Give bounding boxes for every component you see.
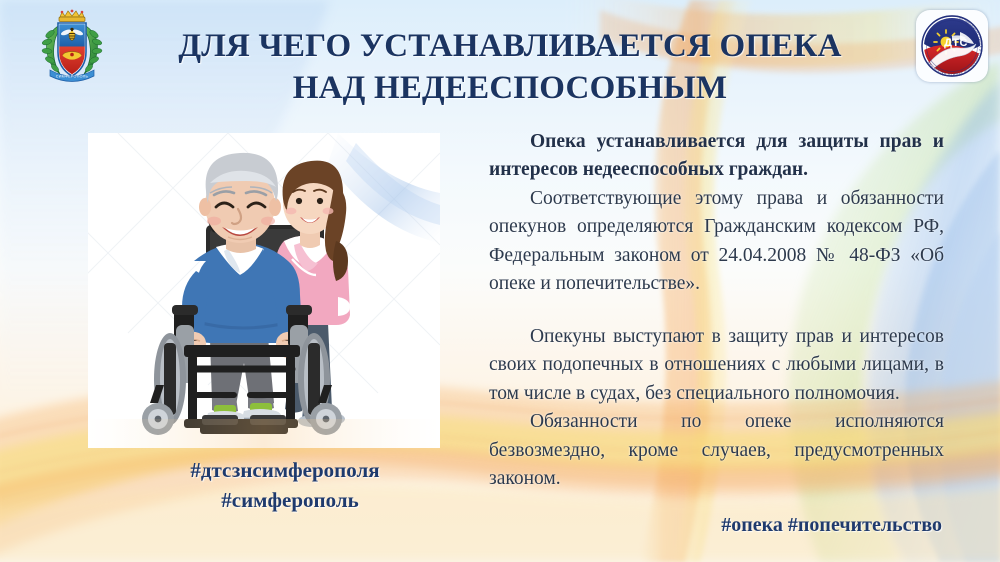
paragraph-spacer (489, 299, 944, 323)
page-title: ДЛЯ ЧЕГО УСТАНАВЛИВАЕТСЯ ОПЕКА НАД НЕДЕЕ… (120, 26, 900, 110)
illustration-elderly-man-wheelchair-with-caregiver (88, 133, 440, 448)
slide-header: СИМФЕРОПОЛЬ ДЛЯ ЧЕГО УСТАНАВЛИВАЕТСЯ ОПЕ… (0, 0, 1000, 122)
page-title-line-2: НАД НЕДЕЕСПОСОБНЫМ (120, 68, 900, 110)
paragraph-3: Опекуны выступают в защиту прав и интере… (489, 323, 944, 408)
hashtag-dtszn: #дтсзнсимферополя (120, 455, 450, 485)
simferopol-coat-of-arms-icon: СИМФЕРОПОЛЬ (38, 8, 106, 88)
hashtags-left: #дтсзнсимферополя #симферополь (120, 455, 450, 516)
slide-root: СИМФЕРОПОЛЬ ДЛЯ ЧЕГО УСТАНАВЛИВАЕТСЯ ОПЕ… (0, 0, 1000, 562)
svg-text:ДТС: ДТС (944, 37, 968, 49)
body-text-column: Опека устанавливается для защиты прав и … (489, 128, 944, 494)
hashtag-opeka-popechitelstvo: #опека #попечительство (721, 511, 942, 540)
hashtags-right: #опека #попечительство (721, 511, 942, 540)
paragraph-1: Опека устанавливается для защиты прав и … (489, 128, 944, 185)
social-services-logo-icon: ДТС ДЕПАРТАМЕНТ ТРУДА И СОЦИАЛЬНОЙ ЗАЩИТ… (916, 10, 988, 82)
hashtag-simferopol: #симферополь (120, 485, 450, 515)
svg-text:СИМФЕРОПОЛЬ: СИМФЕРОПОЛЬ (56, 75, 89, 79)
paragraph-4: Обязанности по опеке исполняются безвозм… (489, 408, 944, 493)
page-title-line-1: ДЛЯ ЧЕГО УСТАНАВЛИВАЕТСЯ ОПЕКА (120, 26, 900, 68)
paragraph-2: Соответствующие этому права и обязанност… (489, 185, 944, 299)
